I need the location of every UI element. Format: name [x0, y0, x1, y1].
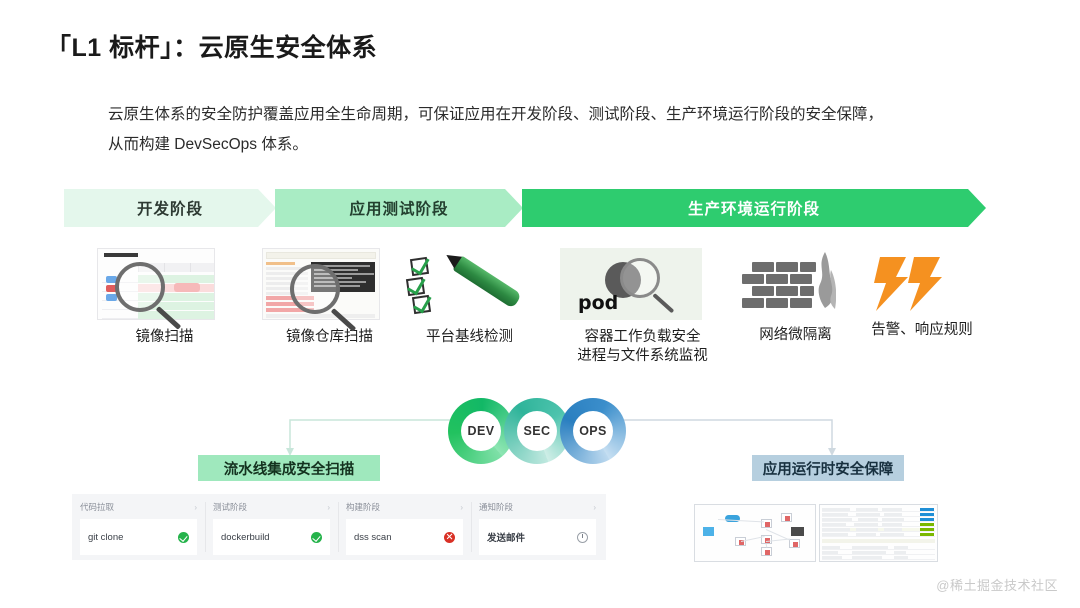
pipeline-card-3-task: dss scan [354, 532, 392, 543]
ring-dev-label: DEV [461, 411, 501, 451]
feature-baseline-check-art [403, 250, 536, 320]
chevron-right-icon[interactable]: › [460, 503, 463, 512]
intro-line-2: 从而构建 DevSecOps 体系。 [108, 130, 988, 160]
pipeline-card-3-stage: 构建阶段 [346, 501, 380, 513]
network-topology-panel [694, 504, 816, 562]
chevron-right-icon[interactable]: › [327, 503, 330, 512]
dark-node-icon [791, 527, 804, 536]
pipeline-stage-cards: 代码拉取 › git clone 测试阶段 › dockerbuild 构建阶段… [72, 494, 606, 560]
magnifier-icon [115, 262, 187, 334]
pipeline-card-1-task: git clone [88, 532, 123, 543]
page-title: 「L1 标杆」：云原生安全体系 [46, 28, 377, 64]
pipeline-card-4-body[interactable]: 发送邮件 [479, 519, 596, 555]
feature-registry-scan-art [262, 248, 397, 320]
ring-ops: OPS [560, 398, 626, 464]
intro-paragraph: 云原生体系的安全防护覆盖应用全生命周期，可保证应用在开发阶段、测试阶段、生产环境… [108, 100, 988, 160]
pipeline-card-4-stage: 通知阶段 [479, 501, 513, 513]
status-success-icon [311, 532, 322, 543]
pipeline-card-1-header: 代码拉取 › [80, 501, 197, 513]
pipeline-card-3-header: 构建阶段 › [346, 501, 463, 513]
feature-baseline-check: 平台基线检测 [403, 250, 536, 347]
alerts-table-panel [819, 504, 938, 562]
feature-row: 镜像扫描 镜像仓库扫描 [0, 243, 1080, 383]
watermark: @稀土掘金技术社区 [936, 575, 1058, 594]
pipeline-card-2-stage: 测试阶段 [213, 501, 247, 513]
feature-alert-rules: 告警、响应规则 [862, 255, 982, 340]
pipeline-card-1[interactable]: 代码拉取 › git clone [72, 494, 205, 560]
pipeline-card-4[interactable]: 通知阶段 › 发送邮件 [471, 494, 604, 560]
runtime-dashboard-thumbnail [694, 504, 938, 562]
magnifier-icon [290, 264, 362, 336]
flame-icon [806, 252, 836, 310]
pipeline-card-3-body[interactable]: dss scan [346, 519, 463, 555]
pipeline-card-1-body[interactable]: git clone [80, 519, 197, 555]
lifecycle-stage-banner: 开发阶段 应用测试阶段 生产环境运行阶段 [64, 189, 986, 227]
feature-micro-segmentation: 网络微隔离 [738, 248, 853, 345]
pipeline-card-4-header: 通知阶段 › [479, 501, 596, 513]
feature-container-workload-label-1: 容器工作负载安全 [560, 328, 725, 347]
stage-testing-label: 应用测试阶段 [349, 197, 448, 219]
pipeline-card-4-task: 发送邮件 [487, 530, 525, 544]
badge-runtime-security: 应用运行时安全保障 [752, 455, 904, 481]
pipeline-card-3[interactable]: 构建阶段 › dss scan [338, 494, 471, 560]
stage-production-label: 生产环境运行阶段 [688, 197, 820, 219]
feature-container-workload-art: pod [560, 248, 725, 320]
feature-container-workload: pod 容器工作负载安全 进程与文件系统监视 [560, 248, 725, 366]
ring-sec-label: SEC [517, 411, 557, 451]
pipeline-card-1-stage: 代码拉取 [80, 501, 114, 513]
status-error-icon [444, 532, 455, 543]
chevron-right-icon[interactable]: › [194, 503, 197, 512]
lightning-bolts-icon [862, 255, 972, 313]
feature-alert-rules-art [862, 255, 982, 313]
feature-registry-scan: 镜像仓库扫描 [262, 248, 397, 347]
feature-baseline-check-label: 平台基线检测 [403, 328, 536, 347]
pen-icon [452, 255, 522, 308]
ring-ops-label: OPS [573, 411, 613, 451]
badge-pipeline-security-scan: 流水线集成安全扫描 [198, 455, 380, 481]
stage-production: 生产环境运行阶段 [522, 189, 986, 227]
pipeline-card-2-task: dockerbuild [221, 532, 270, 543]
stage-testing: 应用测试阶段 [275, 189, 523, 227]
pod-magnifier-icon: pod [560, 248, 702, 320]
feature-micro-segmentation-art [738, 248, 853, 318]
intro-line-1: 云原生体系的安全防护覆盖应用全生命周期，可保证应用在开发阶段、测试阶段、生产环境… [108, 100, 988, 130]
feature-micro-segmentation-label: 网络微隔离 [738, 326, 853, 345]
host-node-icon [761, 547, 772, 556]
host-node-icon [781, 513, 792, 522]
pod-text-label: pod [578, 292, 618, 314]
chevron-right-icon[interactable]: › [593, 503, 596, 512]
pipeline-card-2-body[interactable]: dockerbuild [213, 519, 330, 555]
stage-development-label: 开发阶段 [137, 197, 203, 219]
status-pending-icon [577, 532, 588, 543]
firewall-flame-icon [738, 248, 838, 318]
feature-image-scan: 镜像扫描 [97, 248, 232, 347]
feature-alert-rules-label: 告警、响应规则 [862, 321, 982, 340]
devsecops-rings: DEV SEC OPS [448, 398, 638, 464]
checklist-pen-icon [403, 250, 536, 320]
pipeline-card-2-header: 测试阶段 › [213, 501, 330, 513]
stage-development: 开发阶段 [64, 189, 276, 227]
magnifier-icon [620, 258, 682, 320]
feature-container-workload-label-2: 进程与文件系统监视 [560, 347, 725, 366]
feature-image-scan-art [97, 248, 232, 320]
status-success-icon [178, 532, 189, 543]
pipeline-card-2[interactable]: 测试阶段 › dockerbuild [205, 494, 338, 560]
host-node-icon [789, 539, 800, 548]
blue-node-icon [703, 527, 714, 536]
